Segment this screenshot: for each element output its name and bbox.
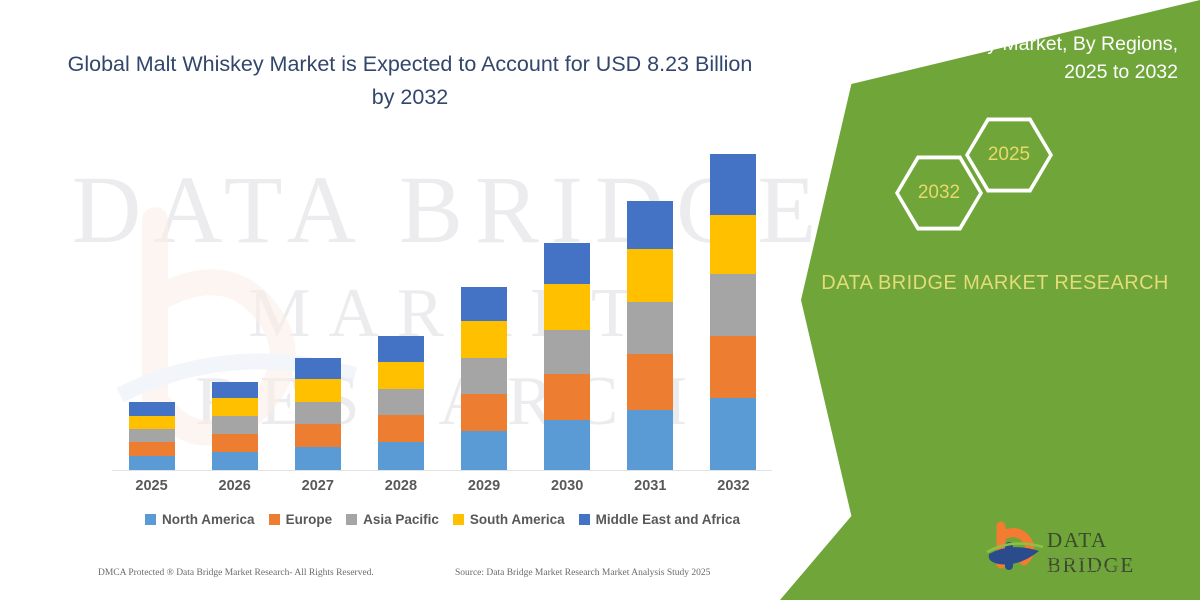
chart-bars-area: [110, 140, 775, 470]
bar-segment-asia-pacific: [461, 358, 507, 394]
bar-segment-europe: [627, 354, 673, 410]
stacked-bar: [627, 201, 673, 470]
bar-segment-south-america: [295, 379, 341, 402]
stacked-bar: [461, 287, 507, 470]
x-axis-label: 2031: [609, 478, 692, 494]
chart-baseline-axis: [112, 470, 772, 471]
legend-swatch-icon: [453, 514, 464, 525]
bar-segment-north-america: [378, 442, 424, 470]
bar-segment-north-america: [461, 431, 507, 470]
bar-segment-north-america: [710, 398, 756, 470]
panel-brand-name: DATA BRIDGE MARKET RESEARCH: [820, 268, 1170, 298]
bar-column: [276, 140, 359, 470]
footer-source: Source: Data Bridge Market Research Mark…: [455, 568, 710, 578]
bar-segment-europe: [544, 374, 590, 420]
bar-segment-south-america: [627, 249, 673, 302]
legend-item[interactable]: Europe: [269, 512, 333, 527]
legend-item[interactable]: South America: [453, 512, 565, 527]
bar-segment-asia-pacific: [710, 274, 756, 336]
bar-segment-north-america: [212, 452, 258, 470]
bar-segment-europe: [295, 424, 341, 447]
bar-column: [692, 140, 775, 470]
bar-column: [110, 140, 193, 470]
right-brand-panel: Global Malt Whiskey Market, By Regions, …: [780, 0, 1200, 600]
x-axis-label: 2027: [276, 478, 359, 494]
bar-segment-north-america: [544, 420, 590, 470]
bar-column: [193, 140, 276, 470]
bar-segment-north-america: [627, 410, 673, 470]
legend-item[interactable]: Asia Pacific: [346, 512, 439, 527]
bar-segment-asia-pacific: [378, 389, 424, 415]
bar-column: [359, 140, 442, 470]
stacked-bar: [295, 358, 341, 470]
dbmr-logo: DATA BRIDGE MARKET RESEARCH: [985, 520, 1185, 580]
bar-segment-asia-pacific: [295, 402, 341, 424]
bar-segment-asia-pacific: [544, 330, 590, 374]
legend-label: Asia Pacific: [363, 512, 439, 527]
x-axis-label: 2026: [193, 478, 276, 494]
bar-segment-south-america: [378, 362, 424, 389]
bar-segment-asia-pacific: [212, 416, 258, 434]
bar-segment-south-america: [544, 284, 590, 330]
bar-segment-europe: [461, 394, 507, 431]
bar-segment-europe: [378, 415, 424, 442]
legend-swatch-icon: [579, 514, 590, 525]
bar-segment-middle-east-and-africa: [627, 201, 673, 248]
legend-swatch-icon: [269, 514, 280, 525]
bar-segment-europe: [129, 442, 175, 456]
chart-legend: North AmericaEuropeAsia PacificSouth Ame…: [110, 512, 775, 527]
legend-swatch-icon: [346, 514, 357, 525]
legend-label: Middle East and Africa: [596, 512, 740, 527]
hexagon-group: 2025 2032: [780, 110, 1200, 230]
x-axis-label: 2029: [443, 478, 526, 494]
bar-segment-europe: [710, 336, 756, 398]
x-axis-label: 2025: [110, 478, 193, 494]
panel-title: Global Malt Whiskey Market, By Regions, …: [800, 30, 1178, 87]
bar-segment-asia-pacific: [627, 302, 673, 354]
bar-segment-south-america: [212, 398, 258, 416]
bar-segment-middle-east-and-africa: [710, 154, 756, 215]
bar-column: [526, 140, 609, 470]
bar-segment-middle-east-and-africa: [544, 243, 590, 284]
bar-segment-asia-pacific: [129, 429, 175, 442]
bar-segment-middle-east-and-africa: [129, 402, 175, 416]
infographic-canvas: DATA BRIDGE MARKET RESEARCH Global Malt …: [0, 0, 1200, 600]
logo-tagline: MARKET RESEARCH: [1048, 552, 1185, 576]
bar-column: [443, 140, 526, 470]
stacked-bar-chart: 20252026202720282029203020312032 North A…: [0, 0, 800, 600]
bar-segment-north-america: [295, 447, 341, 470]
bar-segment-middle-east-and-africa: [461, 287, 507, 321]
bar-segment-north-america: [129, 456, 175, 470]
legend-label: North America: [162, 512, 255, 527]
bar-segment-middle-east-and-africa: [378, 336, 424, 362]
x-axis-label: 2032: [692, 478, 775, 494]
x-axis-label: 2030: [526, 478, 609, 494]
hexagon-end-year-label: 2032: [918, 182, 960, 204]
bar-segment-south-america: [129, 416, 175, 429]
chart-x-axis-labels: 20252026202720282029203020312032: [110, 478, 775, 494]
legend-swatch-icon: [145, 514, 156, 525]
footer-copyright: DMCA Protected ® Data Bridge Market Rese…: [98, 568, 374, 578]
bar-segment-middle-east-and-africa: [295, 358, 341, 379]
legend-item[interactable]: Middle East and Africa: [579, 512, 740, 527]
bar-segment-south-america: [461, 321, 507, 358]
bar-column: [609, 140, 692, 470]
hexagon-end-year: 2032: [895, 154, 983, 232]
stacked-bar: [129, 402, 175, 470]
bar-segment-south-america: [710, 215, 756, 274]
stacked-bar: [212, 382, 258, 470]
stacked-bar: [544, 243, 590, 471]
x-axis-label: 2028: [359, 478, 442, 494]
legend-item[interactable]: North America: [145, 512, 255, 527]
stacked-bar: [378, 336, 424, 470]
green-panel-shape: [780, 0, 1200, 600]
legend-label: Europe: [286, 512, 333, 527]
dbmr-b-mark-icon: [985, 520, 1045, 574]
legend-label: South America: [470, 512, 565, 527]
hexagon-start-year-label: 2025: [988, 144, 1030, 166]
bar-segment-europe: [212, 434, 258, 452]
stacked-bar: [710, 154, 756, 470]
bar-segment-middle-east-and-africa: [212, 382, 258, 398]
